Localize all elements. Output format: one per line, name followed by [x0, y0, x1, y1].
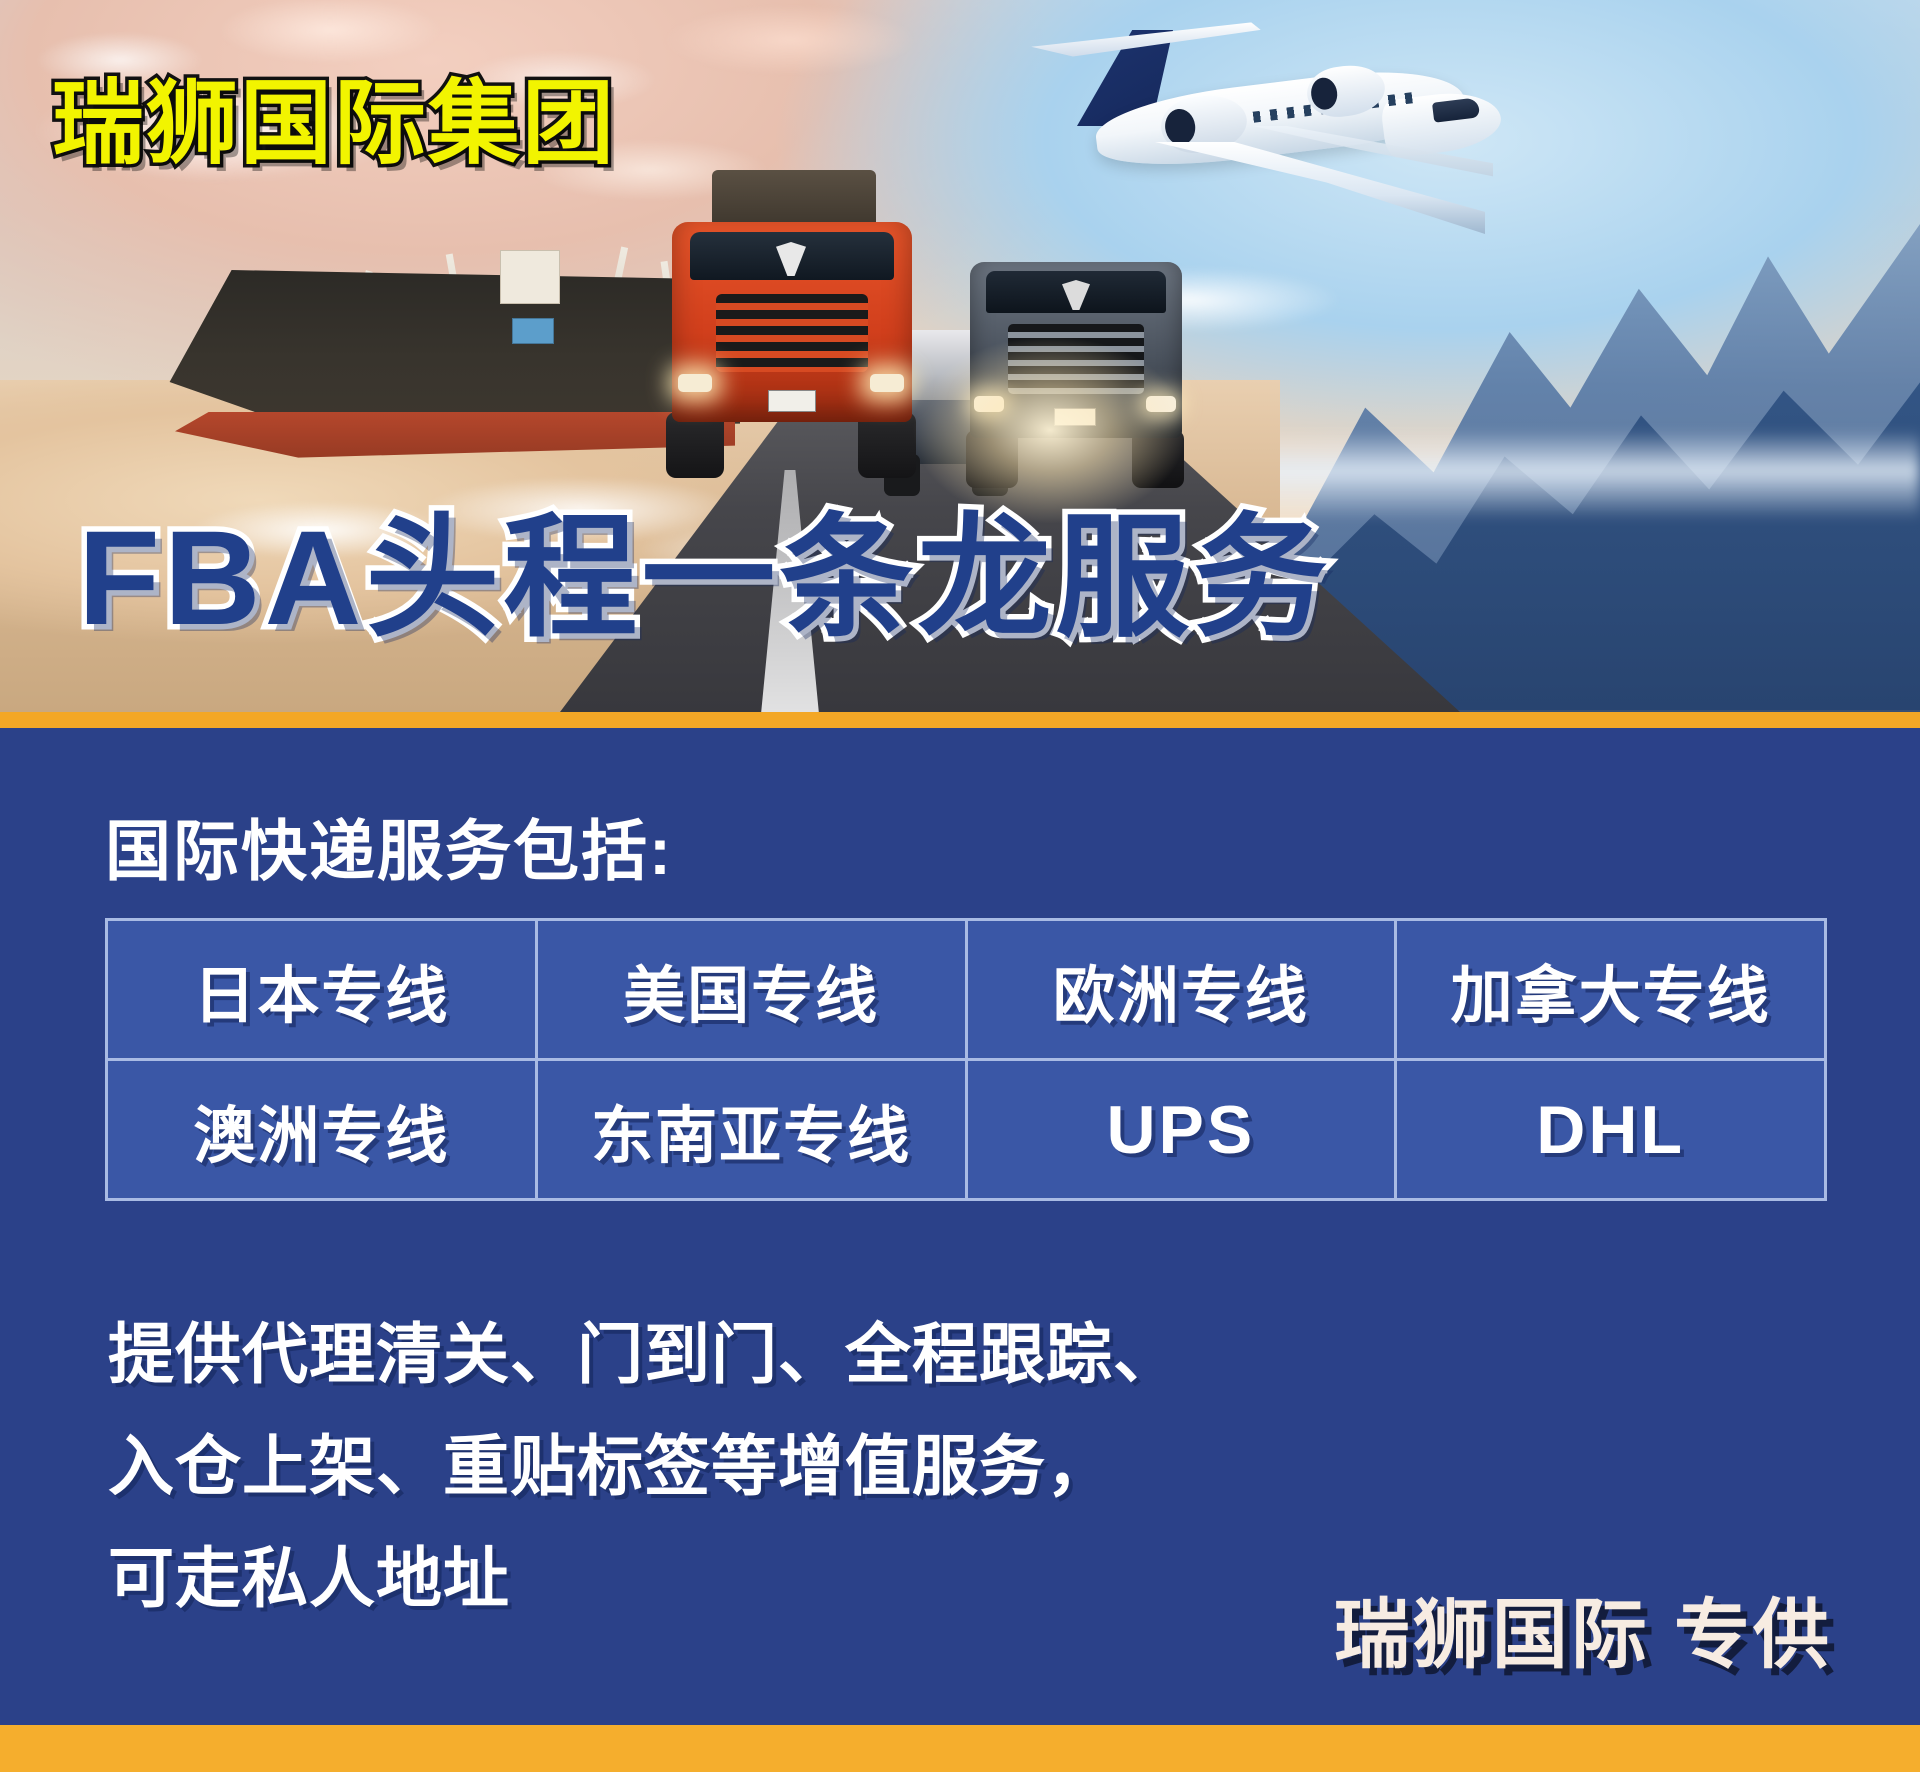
- service-cell-jp[interactable]: 日本专线: [107, 920, 537, 1060]
- airplane-icon: [1035, 30, 1505, 240]
- blurb-line-3: 可走私人地址: [108, 1522, 1180, 1634]
- table-row: 日本专线 美国专线 欧洲专线 加拿大专线: [107, 920, 1826, 1060]
- silver-truck-icon: [970, 262, 1182, 492]
- service-cell-sea[interactable]: 东南亚专线: [536, 1060, 966, 1200]
- services-table: 日本专线 美国专线 欧洲专线 加拿大专线 澳洲专线 东南亚专线 UPS DHL: [105, 918, 1827, 1201]
- truck-grille: [716, 294, 868, 372]
- wheel-icon: [1132, 430, 1184, 488]
- service-cell-ups[interactable]: UPS: [966, 1060, 1396, 1200]
- brand-logo: 瑞狮国际集团: [52, 78, 616, 170]
- services-section: 国际快递服务包括: 日本专线 美国专线 欧洲专线 加拿大专线 澳洲专线 东南亚专…: [0, 728, 1920, 1725]
- blurb-line-2: 入仓上架、重贴标签等增值服务，: [108, 1410, 1180, 1522]
- shipping-container-icon: [512, 318, 554, 344]
- ship-bridge: [500, 250, 560, 304]
- service-cell-ca[interactable]: 加拿大专线: [1396, 920, 1826, 1060]
- wheel-icon: [966, 430, 1018, 488]
- ship-waterline: [175, 412, 735, 460]
- ship-hull: [120, 270, 740, 430]
- service-cell-dhl[interactable]: DHL: [1396, 1060, 1826, 1200]
- blurb-line-1: 提供代理清关、门到门、全程跟踪、: [108, 1298, 1180, 1410]
- headlight-icon: [870, 374, 904, 392]
- divider-orange-top: [0, 712, 1920, 728]
- truck-grille: [1008, 324, 1144, 394]
- license-plate: [768, 390, 816, 412]
- headlight-icon: [1146, 396, 1176, 412]
- value-added-services-blurb: 提供代理清关、门到门、全程跟踪、 入仓上架、重贴标签等增值服务， 可走私人地址: [108, 1298, 1180, 1634]
- license-plate: [1054, 408, 1096, 426]
- table-row: 澳洲专线 东南亚专线 UPS DHL: [107, 1060, 1826, 1200]
- service-cell-eu[interactable]: 欧洲专线: [966, 920, 1396, 1060]
- service-cell-au[interactable]: 澳洲专线: [107, 1060, 537, 1200]
- hero-banner: 瑞狮国际集团 FBA头程一条龙服务: [0, 0, 1920, 712]
- cargo-ship-icon: [120, 230, 740, 490]
- service-cell-us[interactable]: 美国专线: [536, 920, 966, 1060]
- divider-orange-bottom: [0, 1725, 1920, 1772]
- signature-text: 瑞狮国际 专供: [1334, 1573, 1832, 1683]
- headlight-icon: [974, 396, 1004, 412]
- hero-headline: FBA头程一条龙服务: [78, 512, 1331, 646]
- poster-root: 瑞狮国际集团 FBA头程一条龙服务 国际快递服务包括: 日本专线 美国专线 欧洲…: [0, 0, 1920, 1772]
- section-title: 国际快递服务包括:: [105, 798, 673, 894]
- headlight-icon: [678, 374, 712, 392]
- red-truck-icon: [672, 222, 912, 482]
